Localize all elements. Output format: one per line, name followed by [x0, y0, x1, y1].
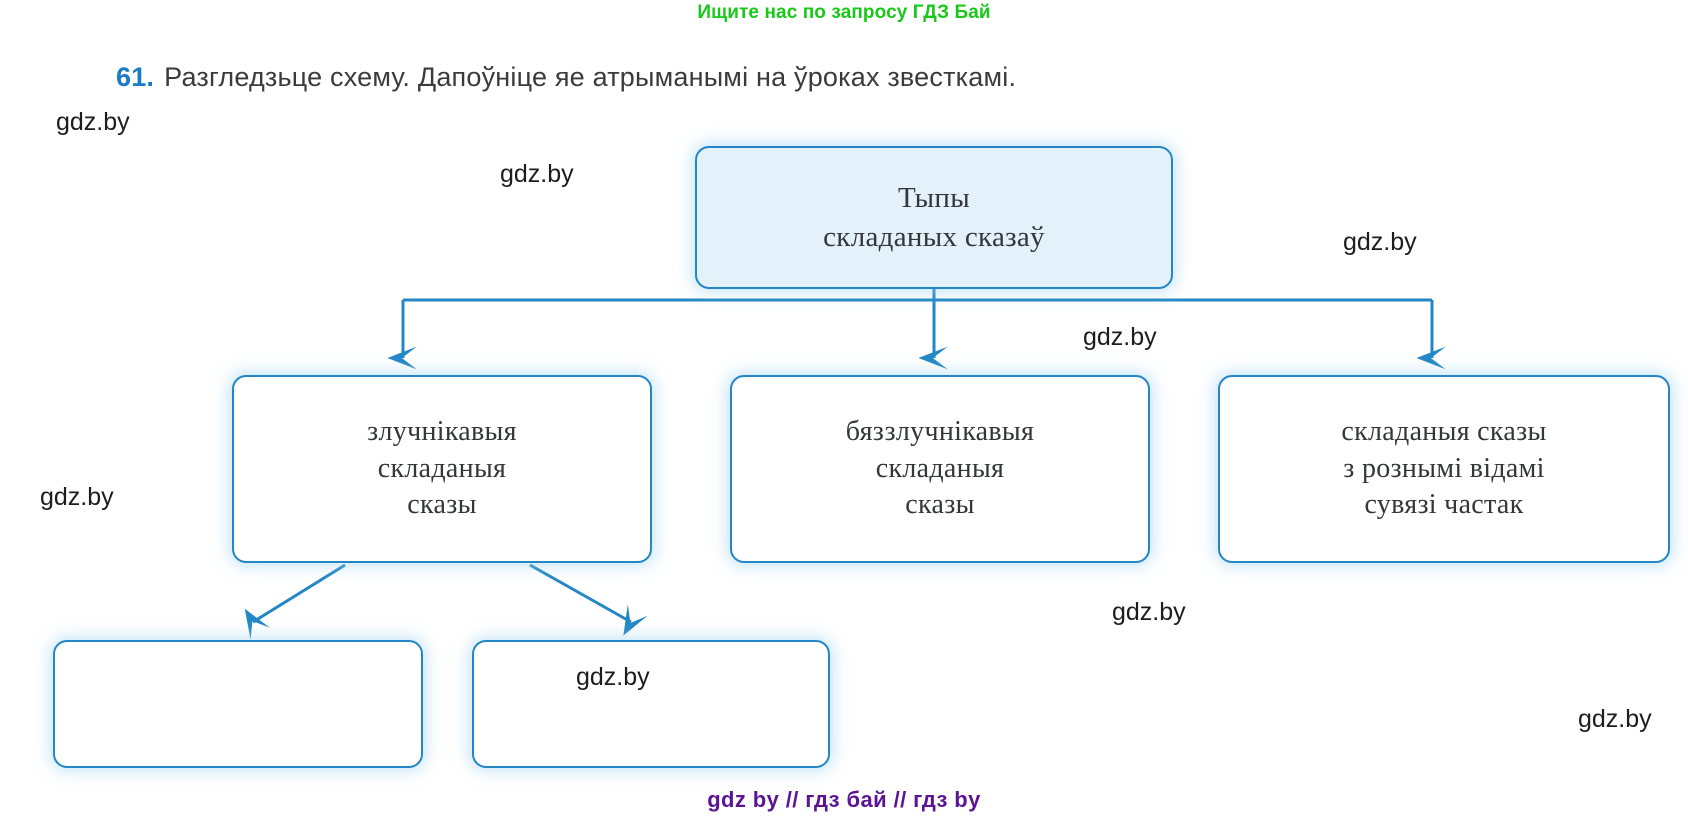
watermark-5: gdz.by: [40, 483, 114, 512]
watermark-1: gdz.by: [56, 108, 130, 137]
diagram-node-mixed: складаныя сказы з рознымі відамі сувязі …: [1218, 375, 1670, 563]
footer-credits: gdz by // гдз бай // гдз by: [0, 787, 1688, 813]
page-title: 61.Разгледзьце схему. Дапоўніце яе атрым…: [116, 62, 1016, 93]
node-l3-line-1: складаныя сказы: [1341, 414, 1546, 451]
node-l3-line-3: сувязі частак: [1341, 487, 1546, 524]
diagram-node-root: Тыпы складаных сказаў: [695, 146, 1173, 289]
connector-to-e2: [530, 565, 631, 622]
diagram-node-blank-2[interactable]: [472, 640, 830, 768]
root-line-2: складаных сказаў: [823, 218, 1045, 256]
node-l2-line-2: складаныя: [846, 451, 1034, 488]
node-l1-line-1: злучнікавыя: [367, 414, 517, 451]
node-l1-line-2: складаныя: [367, 451, 517, 488]
node-l2-line-1: бяззлучнікавыя: [846, 414, 1034, 451]
page-canvas: Ищите нас по запросу ГДЗ Бай 61.Разгледз…: [0, 0, 1688, 822]
watermark-3: gdz.by: [1343, 228, 1417, 257]
watermark-2: gdz.by: [500, 160, 574, 189]
watermark-8: gdz.by: [1578, 705, 1652, 734]
watermark-7: gdz.by: [576, 663, 650, 692]
watermark-6: gdz.by: [1112, 598, 1186, 627]
watermark-4: gdz.by: [1083, 323, 1157, 352]
exercise-prompt: Разгледзьце схему. Дапоўніце яе атрыманы…: [164, 62, 1016, 92]
diagram-node-conjunctive: злучнікавыя складаныя сказы: [232, 375, 652, 563]
node-l3-line-2: з рознымі відамі: [1341, 451, 1546, 488]
node-l1-line-3: сказы: [367, 487, 517, 524]
root-line-1: Тыпы: [823, 179, 1045, 217]
promo-banner: Ищите нас по запросу ГДЗ Бай: [0, 2, 1688, 24]
diagram-node-non-conjunctive: бяззлучнікавыя складаныя сказы: [730, 375, 1150, 563]
connector-to-e1: [253, 565, 345, 622]
exercise-number: 61.: [116, 62, 154, 92]
diagram-node-blank-1[interactable]: [53, 640, 423, 768]
node-l2-line-3: сказы: [846, 487, 1034, 524]
